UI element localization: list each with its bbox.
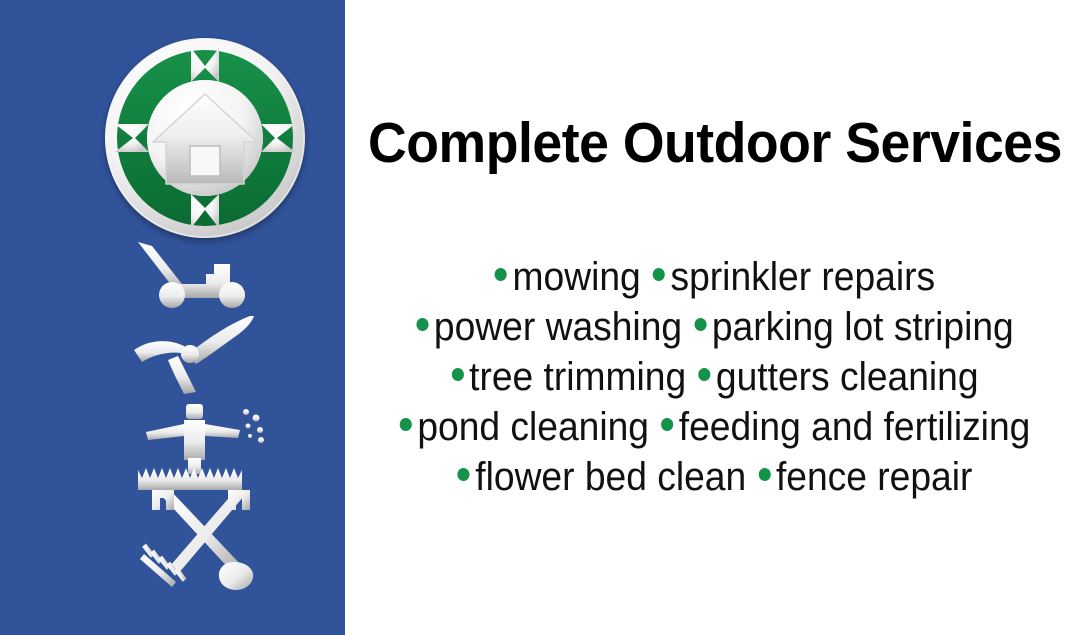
service-line: tree trimminggutters cleaning xyxy=(371,352,1059,402)
service-line: mowingsprinkler repairs xyxy=(371,252,1059,302)
service-item: fence repair xyxy=(758,455,972,499)
bullet-icon xyxy=(661,418,673,431)
lawn-mower-icon xyxy=(130,240,275,315)
fertilizer-spreader-icon xyxy=(130,398,275,493)
logo-graphic xyxy=(105,38,305,238)
pruning-shears-icon xyxy=(130,312,275,397)
service-label: flower bed clean xyxy=(475,455,746,499)
left-blue-panel xyxy=(0,0,345,635)
bullet-icon xyxy=(698,368,710,381)
service-line: flower bed cleanfence repair xyxy=(371,452,1059,502)
service-label: feeding and fertilizing xyxy=(679,405,1031,449)
service-line: pond cleaningfeeding and fertilizing xyxy=(371,402,1059,452)
service-item: power washing xyxy=(416,305,682,349)
service-label: parking lot striping xyxy=(712,305,1014,349)
service-item: feeding and fertilizing xyxy=(661,405,1030,449)
service-item: flower bed clean xyxy=(458,455,747,499)
right-content-panel: Complete Outdoor Services mowingsprinkle… xyxy=(345,0,1085,635)
flyer-canvas: Complete Outdoor Services mowingsprinkle… xyxy=(0,0,1085,635)
recycling-house-logo xyxy=(105,38,305,238)
tool-icon-stack xyxy=(130,240,275,595)
page-title: Complete Outdoor Services xyxy=(367,110,1063,176)
rake-shovel-icon xyxy=(130,488,275,593)
service-label: pond cleaning xyxy=(417,405,649,449)
service-label: tree trimming xyxy=(469,355,686,399)
bullet-icon xyxy=(400,418,412,431)
service-item: gutters cleaning xyxy=(698,355,978,399)
bullet-icon xyxy=(694,318,706,331)
services-list: mowingsprinkler repairspower washingpark… xyxy=(345,252,1085,502)
service-label: mowing xyxy=(513,255,641,299)
service-label: gutters cleaning xyxy=(716,355,979,399)
service-item: pond cleaning xyxy=(400,405,649,449)
service-label: sprinkler repairs xyxy=(671,255,936,299)
service-item: mowing xyxy=(495,255,641,299)
bullet-icon xyxy=(416,318,428,331)
service-item: tree trimming xyxy=(451,355,686,399)
bullet-icon xyxy=(758,468,770,481)
bullet-icon xyxy=(653,268,665,281)
service-item: parking lot striping xyxy=(694,305,1014,349)
bullet-icon xyxy=(451,368,463,381)
bullet-icon xyxy=(458,468,470,481)
bullet-icon xyxy=(495,268,507,281)
service-item: sprinkler repairs xyxy=(653,255,935,299)
service-line: power washingparking lot striping xyxy=(371,302,1059,352)
service-label: power washing xyxy=(434,305,682,349)
service-label: fence repair xyxy=(776,455,972,499)
